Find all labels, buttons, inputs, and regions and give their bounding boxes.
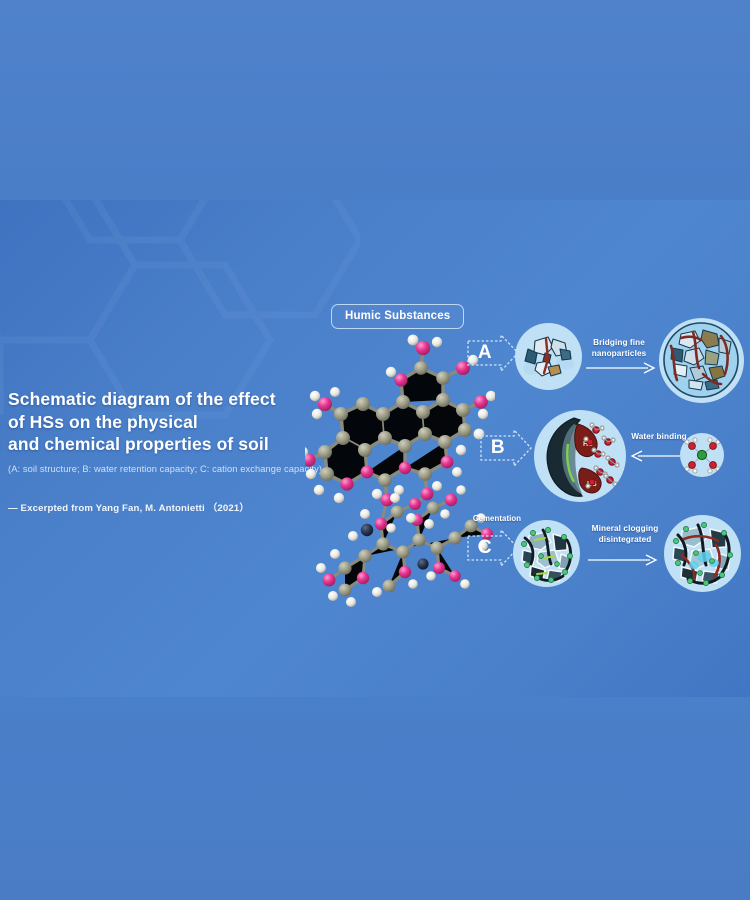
- process-label-c-line2: disintegrated: [580, 535, 670, 546]
- humic-substances-label: Humic Substances: [331, 304, 464, 329]
- row-tag-b: B: [480, 428, 532, 468]
- process-label-a-line2: nanoparticles: [580, 349, 658, 360]
- soil-aggregate-loose-art: [515, 323, 582, 390]
- circle-soil-bridged: [659, 318, 744, 403]
- circle-mineral-disintegrated: [664, 515, 741, 592]
- process-label-b: Water binding: [628, 432, 690, 443]
- top-background-band: [0, 0, 750, 200]
- bottom-background-band: [0, 697, 750, 900]
- circle-soil-loose: [515, 323, 582, 390]
- row-tag-a: A: [467, 333, 519, 373]
- process-label-b-line1: Water binding: [628, 432, 690, 443]
- circle-water-retention: HS HS: [534, 410, 626, 502]
- row-tag-b-letter: B: [480, 428, 516, 468]
- page-title-line-1: Schematic diagram of the effect: [8, 388, 338, 411]
- process-label-c: Mineral clogging disintegrated: [580, 524, 670, 545]
- soil-aggregate-bridged-art: [659, 318, 744, 403]
- row-tag-c: C: [467, 528, 519, 568]
- page-title-line-2: of HSs on the physical: [8, 411, 338, 434]
- row-tag-a-letter: A: [467, 333, 503, 373]
- humic-water-retention-art: HS HS: [534, 410, 626, 502]
- process-label-a: Bridging fine nanoparticles: [580, 338, 658, 359]
- citation-source: — Excerpted from Yang Fan, M. Antonietti…: [8, 500, 338, 514]
- disintegrated-mineral-art: [664, 515, 741, 592]
- water-molecule-cluster-art: [680, 433, 724, 477]
- process-arrow-a: [586, 362, 656, 376]
- page-subtitle: (A: soil structure; B: water retention c…: [8, 463, 338, 476]
- circle-water-cluster: [680, 433, 724, 477]
- pre-label-cementation: Cementation: [466, 514, 528, 525]
- figure-canvas: Schematic diagram of the effect of HSs o…: [0, 0, 750, 900]
- row-tag-c-letter: C: [467, 528, 503, 568]
- cemented-mineral-art: [513, 520, 580, 587]
- text-block: Schematic diagram of the effect of HSs o…: [8, 388, 338, 514]
- circle-mineral-cemented: [513, 520, 580, 587]
- process-arrow-c: [588, 554, 658, 568]
- process-arrow-b: [632, 450, 682, 464]
- process-label-c-line1: Mineral clogging: [580, 524, 670, 535]
- page-title-line-3: and chemical properties of soil: [8, 433, 338, 456]
- process-label-a-line1: Bridging fine: [580, 338, 658, 349]
- figure-illustration-band: Schematic diagram of the effect of HSs o…: [0, 200, 750, 697]
